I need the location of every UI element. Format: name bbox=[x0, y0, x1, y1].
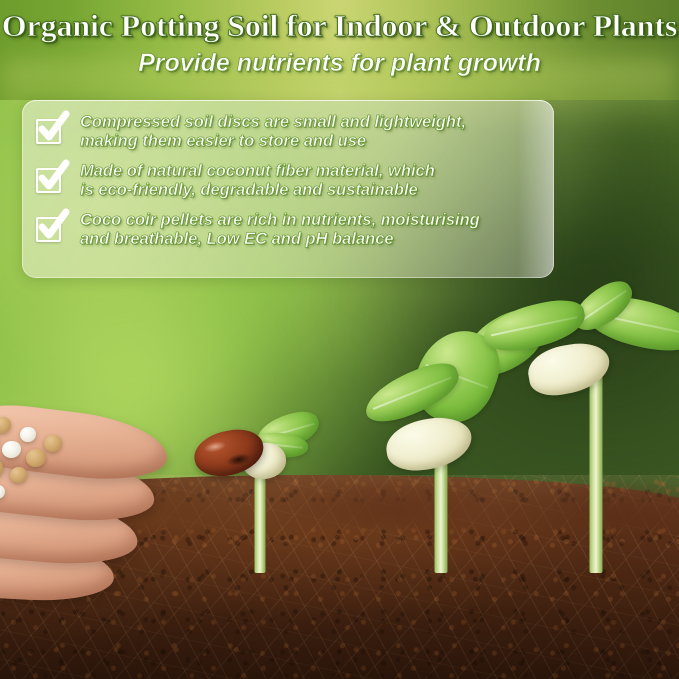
page-subtitle: Provide nutrients for plant growth bbox=[0, 49, 679, 78]
feature-text: Coco coir pellets are rich in nutrients,… bbox=[80, 210, 480, 249]
feature-text: Made of natural coconut fiber material, … bbox=[80, 161, 435, 200]
feature-item: Compressed soil discs are small and ligh… bbox=[22, 112, 554, 151]
seedling-right bbox=[506, 283, 679, 573]
feature-item: Made of natural coconut fiber material, … bbox=[22, 161, 554, 200]
seedling-middle bbox=[356, 323, 526, 573]
hand-with-pellets bbox=[0, 407, 230, 617]
feature-text: Compressed soil discs are small and ligh… bbox=[80, 112, 466, 151]
checkbox-checked-icon bbox=[36, 214, 66, 244]
page-title: Organic Potting Soil for Indoor & Outdoo… bbox=[0, 8, 679, 44]
product-infographic: Organic Potting Soil for Indoor & Outdoo… bbox=[0, 0, 679, 679]
checkbox-checked-icon bbox=[36, 116, 66, 146]
checkbox-checked-icon bbox=[36, 165, 66, 195]
feature-item: Coco coir pellets are rich in nutrients,… bbox=[22, 210, 554, 249]
feature-panel: Compressed soil discs are small and ligh… bbox=[22, 100, 554, 278]
seedling-stem bbox=[590, 361, 603, 573]
pellet-cluster bbox=[0, 401, 140, 521]
seedling-cotyledon bbox=[383, 413, 475, 474]
